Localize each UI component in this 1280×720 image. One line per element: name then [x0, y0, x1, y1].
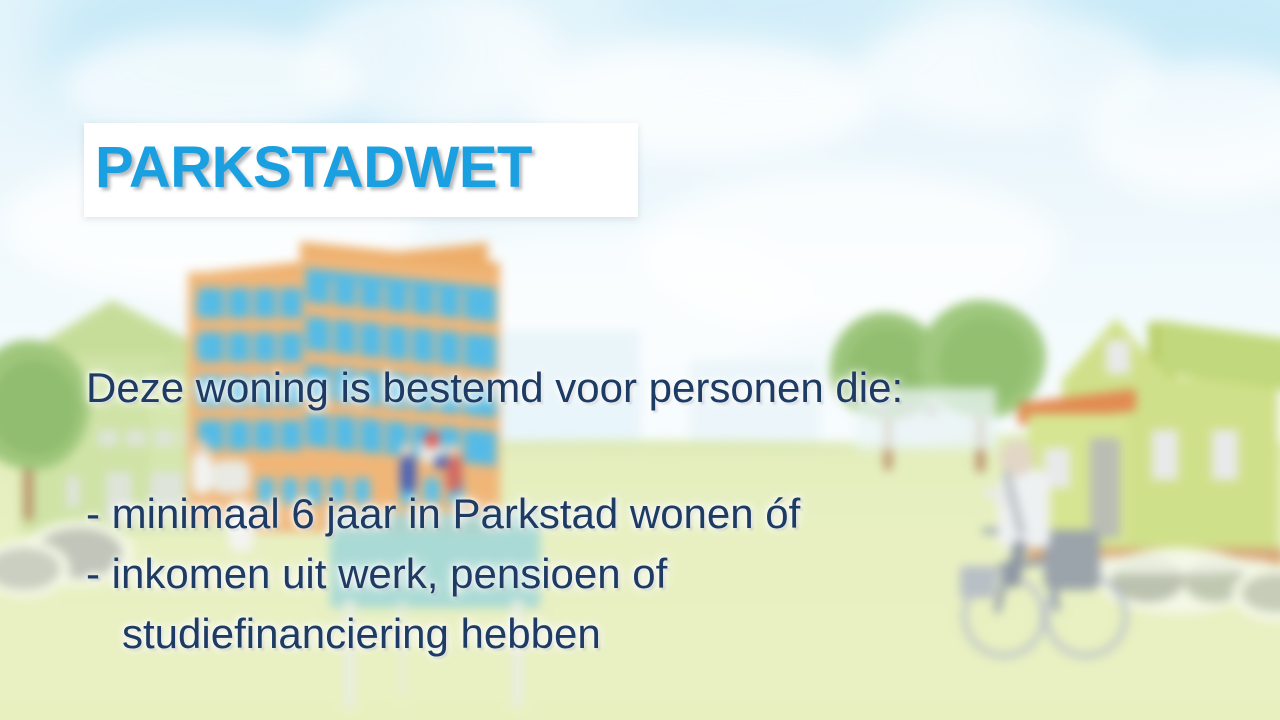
slide-content: PARKSTADWET Deze woning is bestemd voor …: [0, 0, 1280, 720]
requirement-bullet-1: - minimaal 6 jaar in Parkstad wonen óf: [86, 490, 800, 538]
intro-line: Deze woning is bestemd voor personen die…: [86, 364, 903, 412]
requirement-bullet-2: - inkomen uit werk, pensioen of: [86, 550, 667, 598]
page-title: PARKSTADWET: [95, 132, 655, 204]
slide-canvas: PARKSTADWET Deze woning is bestemd voor …: [0, 0, 1280, 720]
requirement-bullet-2-continued: studiefinanciering hebben: [122, 610, 601, 658]
